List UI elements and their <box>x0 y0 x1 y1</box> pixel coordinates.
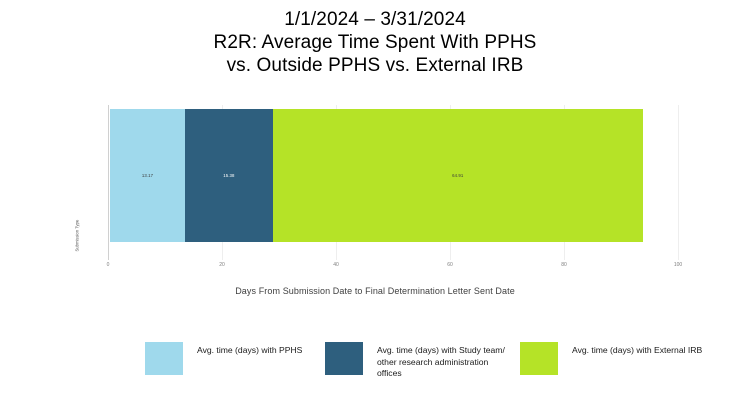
x-axis-tick-label: 0 <box>107 262 110 268</box>
bar-value-label-0: 13.17 <box>142 173 153 178</box>
bar-value-label-2: 64.91 <box>452 173 463 178</box>
bar-value-label-1: 15.38 <box>223 173 234 178</box>
chart-title-line-2: R2R: Average Time Spent With PPHS <box>0 31 750 54</box>
chart-title: 1/1/2024 – 3/31/2024 R2R: Average Time S… <box>0 8 750 77</box>
legend-label-1: Avg. time (days) with Study team/ other … <box>377 342 509 380</box>
legend-label-2: Avg. time (days) with External IRB <box>572 342 702 357</box>
legend-swatch-1 <box>325 342 363 375</box>
legend-item-1[interactable]: Avg. time (days) with Study team/ other … <box>325 342 509 380</box>
x-axis-tick-labels: 020406080100 <box>0 262 750 274</box>
legend-item-0[interactable]: Avg. time (days) with PPHS <box>145 342 302 375</box>
x-axis-tick-label: 100 <box>674 262 682 268</box>
x-axis-title: Days From Submission Date to Final Deter… <box>0 286 750 296</box>
legend: Avg. time (days) with PPHSAvg. time (day… <box>0 340 750 395</box>
x-axis-tick-label: 40 <box>333 262 339 268</box>
x-axis-tick-label: 60 <box>447 262 453 268</box>
y-axis-line <box>108 105 109 260</box>
bar-segment-0: 13.17 <box>110 109 185 242</box>
y-axis-title: Submission Type <box>75 238 80 252</box>
bar-segment-1: 15.38 <box>185 109 273 242</box>
chart-title-line-3: vs. Outside PPHS vs. External IRB <box>0 54 750 77</box>
legend-swatch-2 <box>520 342 558 375</box>
x-axis-tick-label: 80 <box>561 262 567 268</box>
gridline <box>678 105 679 260</box>
legend-swatch-0 <box>145 342 183 375</box>
legend-label-0: Avg. time (days) with PPHS <box>197 342 302 357</box>
x-axis-tick-label: 20 <box>219 262 225 268</box>
stacked-bar: 13.1715.3864.91 <box>110 109 643 242</box>
legend-item-2[interactable]: Avg. time (days) with External IRB <box>520 342 702 375</box>
bar-segment-2: 64.91 <box>273 109 643 242</box>
chart-title-line-1: 1/1/2024 – 3/31/2024 <box>0 8 750 31</box>
